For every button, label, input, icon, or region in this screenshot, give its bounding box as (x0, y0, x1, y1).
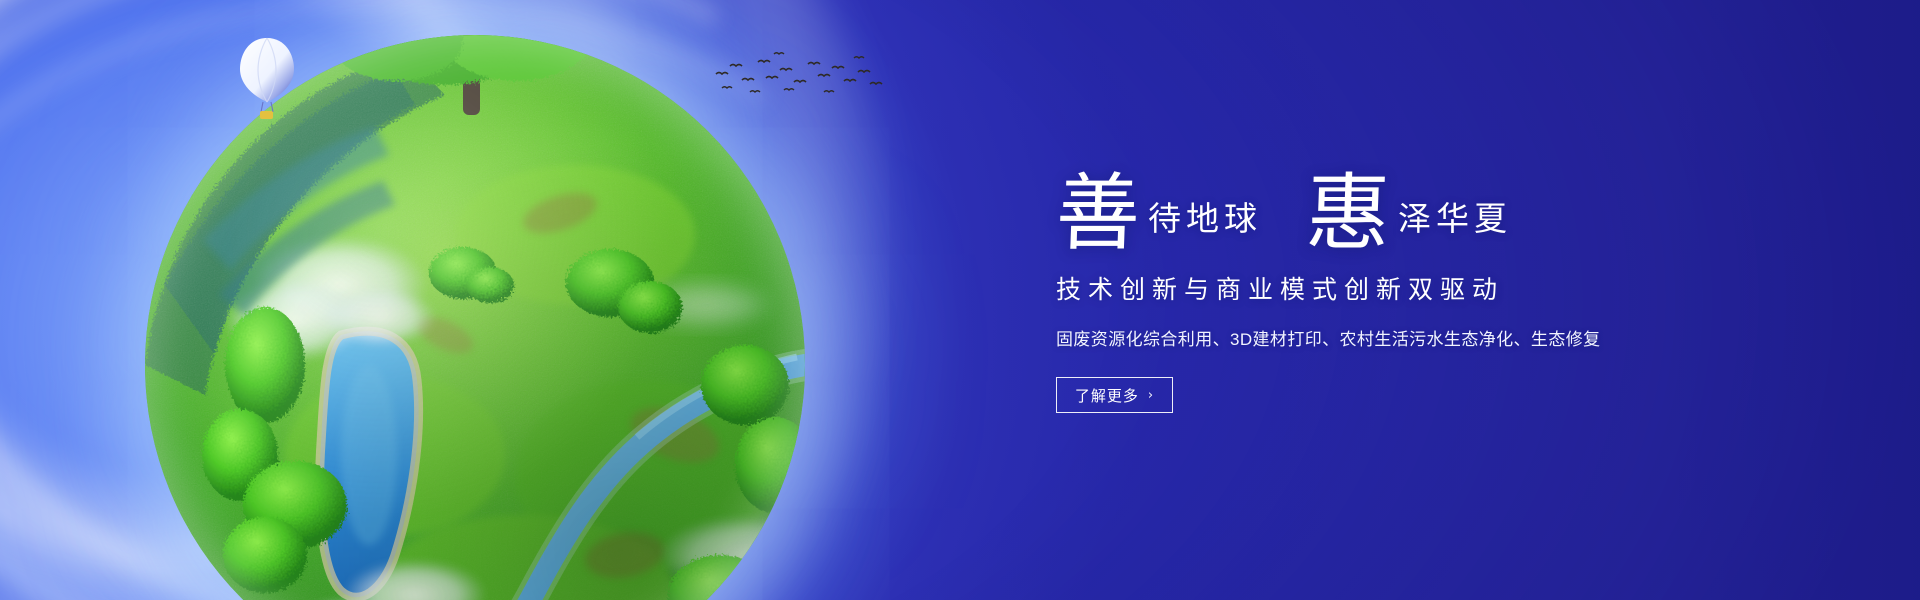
learn-more-button[interactable]: 了解更多 › (1056, 377, 1173, 413)
chevron-right-icon: › (1148, 389, 1154, 402)
hero-banner: 善 待地球 惠 泽华夏 技术创新与商业模式创新双驱动 固废资源化综合利用、3D建… (0, 0, 1920, 600)
headline-group-1: 善 待地球 (1056, 171, 1262, 246)
hero-content: 善 待地球 惠 泽华夏 技术创新与商业模式创新双驱动 固废资源化综合利用、3D建… (1056, 150, 1776, 413)
page-subtitle: 技术创新与商业模式创新双驱动 (1056, 270, 1776, 306)
page-title: 善 待地球 惠 泽华夏 (1056, 150, 1776, 246)
headline-small-text-2: 泽华夏 (1398, 192, 1512, 240)
headline-group-2: 惠 泽华夏 (1306, 171, 1512, 246)
learn-more-label: 了解更多 (1075, 385, 1139, 406)
headline-big-char-2: 惠 (1305, 177, 1392, 249)
headline-small-text-1: 待地球 (1148, 192, 1262, 240)
page-description: 固废资源化综合利用、3D建材打印、农村生活污水生态净化、生态修复 (1056, 325, 1776, 350)
headline-big-char-1: 善 (1055, 177, 1142, 249)
